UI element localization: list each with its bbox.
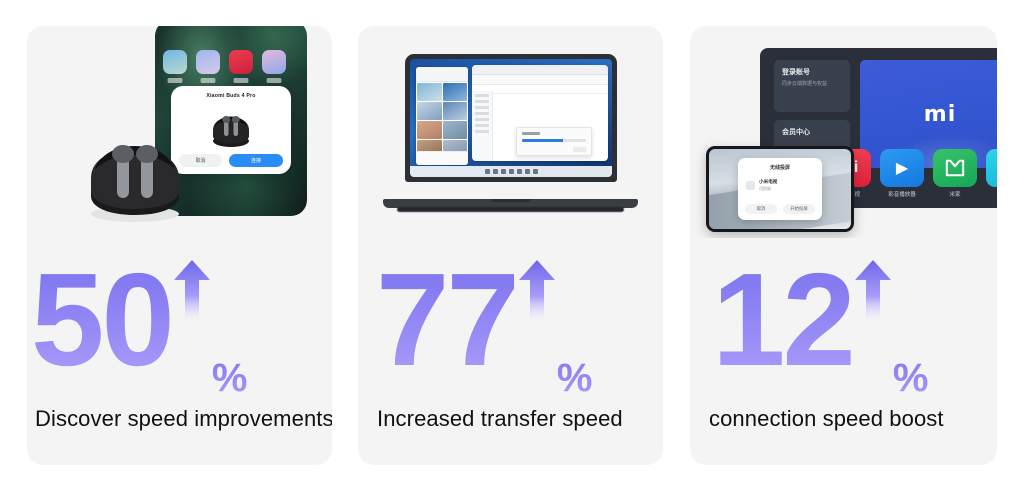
percent-sign: %	[212, 358, 248, 398]
play-icon: ▶	[880, 149, 924, 187]
arrow-up-icon	[519, 260, 555, 326]
metric-value-group: 50 %	[31, 254, 332, 404]
tv-tile-account[interactable]: 登录账号 同步云端数据与权益	[774, 60, 850, 112]
gallery-thumb	[417, 83, 442, 101]
pairing-dialog-actions: 取消 连接	[179, 154, 283, 167]
card-1-media: Xiaomi Buds 4 Pro 取消 连接	[27, 26, 332, 238]
stat-card-transfer-speed[interactable]: 77 % Increased transfer speed	[358, 26, 663, 465]
weather-icon	[196, 50, 220, 74]
laptop-shadow	[397, 207, 624, 212]
mijia-icon	[933, 149, 977, 187]
mirror-window-titlebar	[416, 67, 468, 82]
tv-tile-title: 登录账号	[782, 67, 842, 77]
stat-number: 77	[376, 254, 517, 380]
gallery-thumb	[443, 121, 468, 139]
sidebar-item	[475, 118, 489, 121]
photos-icon	[262, 50, 286, 74]
pairing-connect-button[interactable]: 连接	[229, 154, 283, 167]
metric-value-group: 12 %	[712, 254, 997, 404]
dock-label: 米家	[933, 190, 977, 198]
phone-device: 无线投屏 小米电视 可投屏 取消 开始投屏	[706, 146, 854, 232]
taskbar-icon[interactable]	[509, 169, 514, 174]
dock-item[interactable]: 米家	[933, 149, 977, 198]
stat-number: 12	[712, 254, 853, 380]
phone-app-row	[163, 50, 286, 74]
earbuds-product-image	[79, 130, 191, 222]
tv-tile-title: 会员中心	[782, 127, 842, 137]
laptop-lid	[405, 54, 617, 182]
gallery-thumb	[443, 83, 468, 101]
cast-device-status: 可投屏	[759, 186, 777, 192]
file-transfer-dialog	[516, 127, 592, 156]
cast-dialog-actions: 取消 开始投屏	[745, 204, 815, 214]
taskbar-icon[interactable]	[493, 169, 498, 174]
file-explorer-window	[472, 65, 608, 161]
mirror-window-toolbar	[416, 151, 468, 165]
sidebar-item	[475, 106, 489, 109]
cast-device-name: 小米电视	[759, 179, 777, 185]
tv-device-icon	[746, 181, 755, 190]
sidebar-item	[475, 112, 489, 115]
taskbar-icon[interactable]	[533, 169, 538, 174]
card-3-stat: 12 %	[690, 254, 997, 404]
cast-cancel-button[interactable]: 取消	[745, 204, 777, 214]
sidebar-item	[475, 94, 489, 97]
app-icon	[986, 149, 997, 187]
transfer-ok-button[interactable]	[573, 147, 586, 152]
laptop-device	[383, 54, 638, 214]
transfer-progress-bar	[522, 139, 586, 142]
music-icon	[229, 50, 253, 74]
explorer-sidebar	[472, 91, 493, 161]
arrow-up-icon	[174, 260, 210, 326]
percent-sign: %	[893, 358, 929, 398]
cast-dialog: 无线投屏 小米电视 可投屏 取消 开始投屏	[738, 158, 822, 220]
taskbar-icon[interactable]	[501, 169, 506, 174]
mirror-gallery-grid	[416, 82, 468, 159]
taskbar-icon[interactable]	[485, 169, 490, 174]
metric-value-group: 77 %	[376, 254, 663, 404]
tv-tile-subtitle: 同步云端数据与权益	[782, 81, 842, 88]
sidebar-item	[475, 100, 489, 103]
card-2-stat: 77 %	[358, 254, 663, 404]
card-2-media	[358, 26, 663, 238]
sidebar-item	[475, 124, 489, 127]
pairing-dialog-title: Xiaomi Buds 4 Pro	[171, 93, 291, 99]
card-2-caption: Increased transfer speed	[358, 404, 663, 434]
card-1-caption: Discover speed improvements	[27, 404, 332, 434]
stats-panel-board: Xiaomi Buds 4 Pro 取消 连接	[0, 0, 1024, 481]
taskbar-icon[interactable]	[517, 169, 522, 174]
explorer-tabbar	[472, 65, 608, 75]
phone-mirror-window	[416, 67, 468, 165]
sidebar-item	[475, 130, 489, 133]
card-3-media: 登录账号 同步云端数据与权益 会员中心 mi 应用商店	[690, 26, 997, 238]
gallery-thumb	[443, 102, 468, 120]
taskbar-icon[interactable]	[525, 169, 530, 174]
mijia-glyph	[944, 158, 966, 178]
laptop-screen	[410, 59, 612, 177]
stat-card-discover-speed[interactable]: Xiaomi Buds 4 Pro 取消 连接	[27, 26, 332, 465]
transfer-dialog-title	[522, 132, 540, 135]
cast-confirm-button[interactable]: 开始投屏	[783, 204, 815, 214]
cast-device-row[interactable]: 小米电视 可投屏	[746, 179, 822, 192]
dock-label: 影音播放器	[880, 190, 924, 198]
phone-screen: 无线投屏 小米电视 可投屏 取消 开始投屏	[709, 149, 851, 229]
stat-card-connection-speed[interactable]: 登录账号 同步云端数据与权益 会员中心 mi 应用商店	[690, 26, 997, 465]
stat-number: 50	[31, 254, 172, 380]
explorer-toolbar	[472, 75, 608, 85]
gallery-icon	[163, 50, 187, 74]
dock-item[interactable]: ▶ 影音播放器	[880, 149, 924, 198]
cast-dialog-title: 无线投屏	[738, 164, 822, 171]
mi-logo: mi	[924, 102, 956, 127]
arrow-up-icon	[855, 260, 891, 326]
card-1-stat: 50 %	[27, 254, 332, 404]
dock-item[interactable]	[986, 149, 997, 190]
cast-device-text: 小米电视 可投屏	[759, 179, 777, 192]
card-3-caption: connection speed boost	[690, 404, 997, 434]
gallery-thumb	[417, 102, 442, 120]
gallery-thumb	[417, 121, 442, 139]
percent-sign: %	[557, 358, 593, 398]
windows-taskbar	[410, 166, 612, 177]
earbuds-case-icon	[203, 106, 259, 148]
